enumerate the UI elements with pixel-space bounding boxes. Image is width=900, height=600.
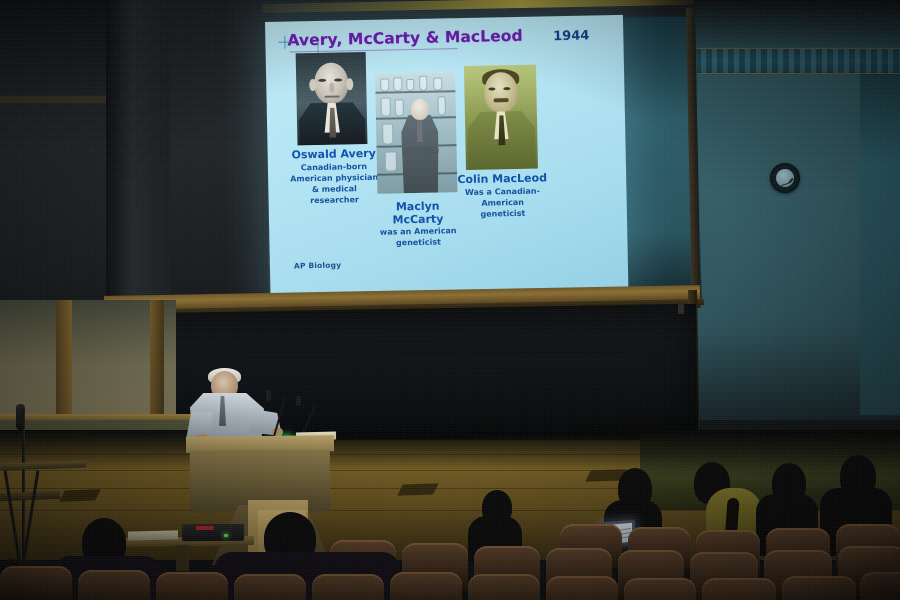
caption-name-mccarty-2: McCarty [369,213,467,227]
caption-mccarty: Maclyn McCarty was an American geneticis… [369,200,468,249]
theater-seat [782,576,856,600]
caption-desc-macleod-3: geneticist [455,208,551,220]
theater-seat [860,572,900,600]
mccarty-head [411,99,429,120]
lab-glassware-6 [381,97,391,116]
lab-glassware-7 [395,99,404,116]
theater-seat [546,576,618,600]
front-table-leg [176,545,189,571]
avery-mouth [324,96,339,98]
left-wall-trim [0,96,112,103]
theater-seat [468,574,540,600]
theater-seat [156,572,228,600]
theater-seat [312,574,384,600]
lab-glassware-8 [438,96,446,115]
left-door-frame [56,300,72,420]
caption-macleod: Colin MacLeod Was a Canadian- American g… [454,172,551,220]
presentation-slide: Avery, McCarty & MacLeod 1944 [265,15,628,297]
left-wall-panel [0,0,108,110]
board-clip-right [678,304,684,314]
floor-inlay-1 [59,489,100,501]
slide-header: Avery, McCarty & MacLeod 1944 [279,25,609,50]
portrait-photo-macleod [464,65,538,170]
table-papers [128,530,178,540]
lab-glassware-5 [433,77,442,90]
microphone-stand-pole [22,408,25,558]
mccarty-tie [417,120,422,142]
wall-clock-icon [770,163,800,193]
caption-desc-macleod-2: American [455,197,551,209]
far-right-wall [860,55,900,415]
slide-footer: AP Biology [294,261,342,271]
clock-hour-hand [788,178,793,184]
portrait-photo-mccarty [375,72,457,194]
portrait-photo-avery [296,52,368,145]
microphone-capsule-1 [266,390,271,401]
decorative-frieze-band [690,48,900,74]
slide-title: Avery, McCarty & MacLeod [287,27,523,50]
theater-seat [234,574,306,600]
lab-glassware-2 [393,77,402,91]
caption-avery: Oswald Avery Canadian-born American phys… [288,148,381,207]
stage-front-shadow [0,430,900,470]
macleod-mustache [494,98,509,102]
lab-glassware-3 [406,79,414,91]
macleod-head [484,72,518,113]
caption-desc-mccarty-2: geneticist [369,237,467,249]
wall-pillar [106,0,170,300]
caption-name-macleod: Colin MacLeod [454,172,550,186]
caption-desc-avery-4: researcher [289,195,381,207]
lab-glassware-9 [382,123,393,144]
device-label-stripe [196,526,214,530]
mccarty-folded-arms [403,147,439,156]
left-door-frame-2 [150,300,164,418]
slide-year: 1944 [553,28,589,44]
clock-minute-hand [781,182,789,186]
lab-glassware-4 [419,76,427,91]
clock-face [776,169,794,187]
lab-glassware-10 [385,151,397,171]
avery-nose [329,83,334,93]
caption-desc-avery-3: & medical [288,184,380,196]
theater-seat [702,578,776,600]
projection-screen: Avery, McCarty & MacLeod 1944 [265,15,628,297]
portrait-group: Oswald Avery Canadian-born American phys… [280,47,614,269]
caption-desc-macleod-1: Was a Canadian- [454,186,550,198]
floor-inlay-2 [397,483,438,495]
caption-desc-mccarty-1: was an American [369,226,467,238]
theater-seat [0,566,72,600]
lecture-hall-photo: Avery, McCarty & MacLeod 1944 [0,0,900,600]
theater-seat [390,572,462,600]
microphone-capsule-2 [296,396,301,406]
crosshair-marker-icon [278,35,291,48]
theater-seat [78,570,150,600]
caption-desc-avery-1: Canadian-born [288,161,380,173]
lab-glassware-1 [380,79,389,92]
theater-seat [624,578,696,600]
caption-desc-avery-2: American physician [288,172,380,184]
device-power-led [224,534,228,537]
caption-name-avery: Oswald Avery [288,148,380,162]
